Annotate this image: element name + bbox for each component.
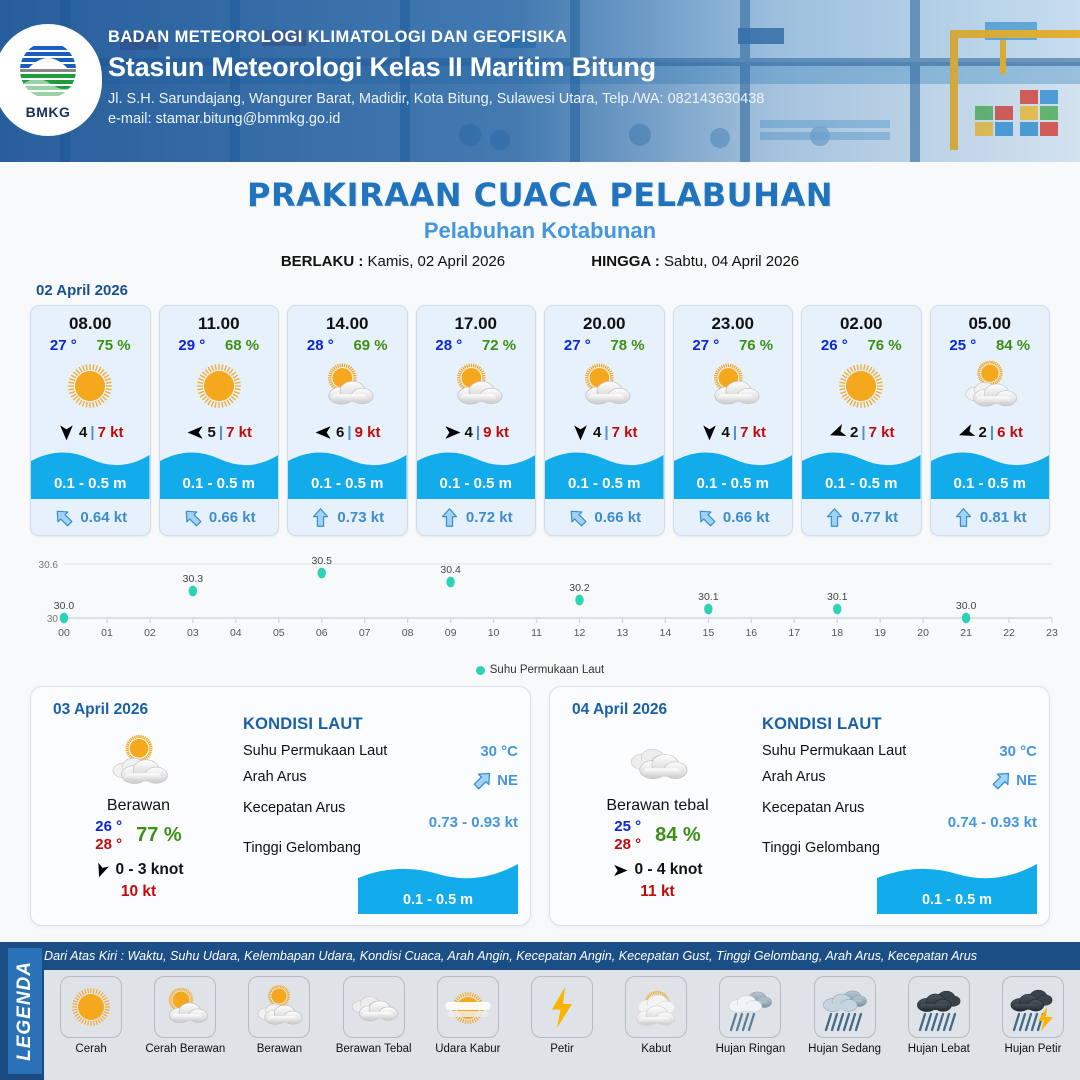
day-sea-conditions: KONDISI LAUT Suhu Permukaan Laut 30 °C A… xyxy=(762,715,1037,856)
card-wind-speed: 4 xyxy=(79,424,87,441)
card-humidity: 76 % xyxy=(739,337,773,354)
card-separator: | xyxy=(861,424,865,441)
current-direction-arrow-icon xyxy=(953,507,974,528)
card-temp-hum: 27 ° 75 % xyxy=(31,334,150,354)
legend-footer: LEGENDA Dari Atas Kiri : Waktu, Suhu Uda… xyxy=(0,942,1080,1080)
page-header: BMKG BADAN METEOROLOGI KLIMATOLOGI DAN G… xyxy=(0,0,1080,162)
wind-direction-arrow-icon xyxy=(93,862,110,879)
card-wind-row: 5 | 7 kt xyxy=(160,417,279,447)
header-text-block: BADAN METEOROLOGI KLIMATOLOGI DAN GEOFIS… xyxy=(108,28,764,127)
card-current-row: 0.64 kt xyxy=(31,499,150,535)
card-wind-row: 4 | 7 kt xyxy=(545,417,664,447)
weather-cerah-berawan-icon xyxy=(417,355,536,417)
card-temp-hum: 27 ° 76 % xyxy=(674,334,793,354)
card-humidity: 78 % xyxy=(610,337,644,354)
day-date: 04 April 2026 xyxy=(572,701,667,719)
weather-hujan-petir-icon xyxy=(1002,976,1064,1038)
current-direction-arrow-icon xyxy=(310,507,331,528)
wind-direction-arrow-icon xyxy=(186,423,205,442)
card-current-speed: 0.66 kt xyxy=(723,509,770,526)
card-wind-speed: 4 xyxy=(465,424,473,441)
wind-direction-arrow-icon xyxy=(314,423,333,442)
svg-text:15: 15 xyxy=(703,627,715,639)
weather-cerah-icon xyxy=(802,355,921,417)
day-condition: Berawan xyxy=(41,797,236,815)
legend-item: Kabut xyxy=(609,976,703,1055)
legend-item-label: Cerah Berawan xyxy=(138,1043,232,1055)
card-temp-hum: 28 ° 69 % xyxy=(288,334,407,354)
card-time: 02.00 xyxy=(802,306,921,334)
day-wind-row: 0 - 4 knot xyxy=(560,861,755,879)
card-wave-block: 0.1 - 0.5 m xyxy=(417,447,536,499)
valid-until-label: HINGGA : xyxy=(591,253,660,270)
sst-row: Suhu Permukaan Laut 30 °C xyxy=(243,743,518,760)
current-direction-arrow-icon xyxy=(182,507,203,528)
valid-until-value: Sabtu, 04 April 2026 xyxy=(664,253,799,270)
legend-item: Berawan Tebal xyxy=(327,976,421,1055)
legend-item: Cerah Berawan xyxy=(138,976,232,1055)
weather-cerah-berawan-icon xyxy=(545,355,664,417)
card-wave-height: 0.1 - 0.5 m xyxy=(288,475,407,492)
card-wave-block: 0.1 - 0.5 m xyxy=(288,447,407,499)
card-temperature: 27 ° xyxy=(564,337,591,354)
card-wave-block: 0.1 - 0.5 m xyxy=(931,447,1050,499)
card-temperature: 25 ° xyxy=(949,337,976,354)
legend-item-label: Berawan xyxy=(232,1043,326,1055)
sst-value: 30 °C xyxy=(480,743,518,760)
svg-text:07: 07 xyxy=(359,627,371,639)
day-wave-value: 0.1 - 0.5 m xyxy=(358,892,518,908)
card-temp-hum: 25 ° 84 % xyxy=(931,334,1050,354)
day-wind-range: 0 - 4 knot xyxy=(634,861,702,879)
svg-text:09: 09 xyxy=(445,627,457,639)
sst-value: 30 °C xyxy=(999,743,1037,760)
card-wind-row: 4 | 7 kt xyxy=(674,417,793,447)
card-wind-row: 4 | 9 kt xyxy=(417,417,536,447)
current-speed-label: Kecepatan Arus xyxy=(243,800,345,816)
card-wind-speed: 4 xyxy=(593,424,601,441)
page-subtitle: Pelabuhan Kotabunan xyxy=(0,218,1080,244)
sst-row: Suhu Permukaan Laut 30 °C xyxy=(762,743,1037,760)
wave-height-row: Tinggi Gelombang xyxy=(762,840,1037,856)
svg-text:17: 17 xyxy=(788,627,800,639)
legend-item-label: Petir xyxy=(515,1043,609,1055)
svg-text:04: 04 xyxy=(230,627,242,639)
svg-text:00: 00 xyxy=(58,627,70,639)
legend-side-banner: LEGENDA xyxy=(8,948,42,1074)
svg-text:06: 06 xyxy=(316,627,328,639)
day-temp-max: 28 ° xyxy=(95,836,122,853)
wind-direction-arrow-icon xyxy=(612,862,629,879)
current-direction-arrow-icon xyxy=(439,507,460,528)
card-time: 05.00 xyxy=(931,306,1050,334)
card-humidity: 68 % xyxy=(225,337,259,354)
svg-text:05: 05 xyxy=(273,627,285,639)
card-current-speed: 0.72 kt xyxy=(466,509,513,526)
card-wind-speed: 2 xyxy=(979,424,987,441)
current-direction-row: Arah Arus NE xyxy=(762,769,1037,791)
weather-berawan-tebal-icon xyxy=(560,731,755,793)
svg-text:16: 16 xyxy=(745,627,757,639)
card-wave-block: 0.1 - 0.5 m xyxy=(802,447,921,499)
card-current-speed: 0.66 kt xyxy=(209,509,256,526)
card-wind-speed: 2 xyxy=(850,424,858,441)
station-name: Stasiun Meteorologi Kelas II Maritim Bit… xyxy=(108,52,764,83)
card-separator: | xyxy=(347,424,351,441)
card-wave-height: 0.1 - 0.5 m xyxy=(160,475,279,492)
wind-direction-arrow-icon xyxy=(443,423,462,442)
station-address: Jl. S.H. Sarundajang, Wangurer Barat, Ma… xyxy=(108,91,764,107)
wind-direction-arrow-icon xyxy=(57,423,76,442)
daily-forecast-panel: 03 April 2026 Berawan 26 ° 28 ° 77 % xyxy=(30,686,531,926)
card-wind-speed: 6 xyxy=(336,424,344,441)
svg-text:30.5: 30.5 xyxy=(312,555,333,567)
sea-conditions-title: KONDISI LAUT xyxy=(243,715,518,734)
svg-text:12: 12 xyxy=(574,627,586,639)
card-separator: | xyxy=(90,424,94,441)
day-summary: Berawan tebal 25 ° 28 ° 84 % 0 - 4 knot … xyxy=(560,731,755,901)
current-direction-arrow-icon xyxy=(824,507,845,528)
hourly-forecast-card: 05.00 25 ° 84 % 2 | 6 kt 0.1 - xyxy=(930,305,1051,536)
card-current-row: 0.72 kt xyxy=(417,499,536,535)
day-temp-max: 28 ° xyxy=(614,836,641,853)
legend-item: Hujan Lebat xyxy=(892,976,986,1055)
svg-text:23: 23 xyxy=(1046,627,1058,639)
card-temperature: 27 ° xyxy=(50,337,77,354)
current-direction-label: Arah Arus xyxy=(762,769,826,785)
svg-text:30.4: 30.4 xyxy=(440,564,461,576)
chart-legend-marker-icon xyxy=(476,666,485,675)
legend-item: Hujan Ringan xyxy=(703,976,797,1055)
day-wave-block: 0.1 - 0.5 m xyxy=(877,856,1037,914)
daily-forecast-row: 03 April 2026 Berawan 26 ° 28 ° 77 % xyxy=(0,676,1080,926)
current-direction-row: Arah Arus NE xyxy=(243,769,518,791)
sst-chart: 30.6300001020304050607080910111213141516… xyxy=(22,550,1058,662)
card-current-speed: 0.73 kt xyxy=(337,509,384,526)
svg-text:30.0: 30.0 xyxy=(956,600,977,612)
day-temps: 25 ° 28 ° 84 % xyxy=(560,818,755,853)
wave-height-label: Tinggi Gelombang xyxy=(243,840,361,856)
legend-item-label: Udara Kabur xyxy=(421,1043,515,1055)
svg-text:30.0: 30.0 xyxy=(54,600,75,612)
card-wave-height: 0.1 - 0.5 m xyxy=(931,475,1050,492)
weather-cerah-berawan-icon xyxy=(674,355,793,417)
card-current-speed: 0.81 kt xyxy=(980,509,1027,526)
card-temperature: 26 ° xyxy=(821,337,848,354)
legend-item: Petir xyxy=(515,976,609,1055)
day-condition: Berawan tebal xyxy=(560,797,755,815)
current-direction-arrow-icon xyxy=(991,769,1013,791)
svg-text:11: 11 xyxy=(531,627,542,639)
weather-berawan-icon xyxy=(931,355,1050,417)
card-gust: 9 kt xyxy=(483,424,509,441)
day-sea-conditions: KONDISI LAUT Suhu Permukaan Laut 30 °C A… xyxy=(243,715,518,856)
svg-text:21: 21 xyxy=(960,627,972,639)
weather-cerah-icon xyxy=(160,355,279,417)
card-humidity: 75 % xyxy=(96,337,130,354)
hourly-forecast-row: 08.00 27 ° 75 % 4 | 7 kt 0.1 - 0.5 m xyxy=(0,305,1080,536)
weather-petir-icon xyxy=(531,976,593,1038)
station-email: e-mail: stamar.bitung@bmmkg.go.id xyxy=(108,111,764,127)
wave-height-row: Tinggi Gelombang xyxy=(243,840,518,856)
current-direction-arrow-icon xyxy=(696,507,717,528)
card-wind-row: 4 | 7 kt xyxy=(31,417,150,447)
sst-label: Suhu Permukaan Laut xyxy=(243,743,387,759)
current-speed-value: 0.74 - 0.93 kt xyxy=(762,814,1037,831)
svg-text:19: 19 xyxy=(874,627,886,639)
day-wave-value: 0.1 - 0.5 m xyxy=(877,892,1037,908)
card-current-speed: 0.66 kt xyxy=(594,509,641,526)
hourly-forecast-card: 17.00 28 ° 72 % 4 | 9 kt 0.1 - 0.5 m xyxy=(416,305,537,536)
legend-note: Dari Atas Kiri : Waktu, Suhu Udara, Kele… xyxy=(44,949,1074,963)
card-current-row: 0.66 kt xyxy=(160,499,279,535)
current-direction-value: NE xyxy=(1016,772,1037,789)
card-time: 23.00 xyxy=(674,306,793,334)
day-gust: 11 kt xyxy=(560,883,755,901)
day-summary: Berawan 26 ° 28 ° 77 % 0 - 3 knot 10 kt xyxy=(41,731,236,901)
hourly-forecast-card: 02.00 26 ° 76 % 2 | 7 kt 0.1 - 0.5 m xyxy=(801,305,922,536)
daily-forecast-panel: 04 April 2026 Berawan tebal 25 ° 28 ° 84… xyxy=(549,686,1050,926)
svg-text:30.1: 30.1 xyxy=(827,591,848,603)
legend-item-label: Kabut xyxy=(609,1043,703,1055)
svg-text:20: 20 xyxy=(917,627,929,639)
svg-text:10: 10 xyxy=(488,627,500,639)
forecast-date-label: 02 April 2026 xyxy=(36,282,1080,299)
card-current-row: 0.77 kt xyxy=(802,499,921,535)
card-gust: 7 kt xyxy=(226,424,252,441)
svg-text:13: 13 xyxy=(617,627,629,639)
card-temperature: 29 ° xyxy=(178,337,205,354)
current-direction-arrow-icon xyxy=(53,507,74,528)
svg-text:22: 22 xyxy=(1003,627,1015,639)
card-temperature: 28 ° xyxy=(435,337,462,354)
card-current-row: 0.81 kt xyxy=(931,499,1050,535)
valid-from-label: BERLAKU : xyxy=(281,253,364,270)
sea-conditions-title: KONDISI LAUT xyxy=(762,715,1037,734)
hourly-forecast-card: 08.00 27 ° 75 % 4 | 7 kt 0.1 - 0.5 m xyxy=(30,305,151,536)
card-humidity: 76 % xyxy=(867,337,901,354)
weather-berawan-tebal-icon xyxy=(343,976,405,1038)
svg-text:03: 03 xyxy=(187,627,199,639)
card-temp-hum: 27 ° 78 % xyxy=(545,334,664,354)
card-separator: | xyxy=(990,424,994,441)
legend-item: Hujan Petir xyxy=(986,976,1080,1055)
svg-text:14: 14 xyxy=(660,627,672,639)
svg-text:30.2: 30.2 xyxy=(569,582,590,594)
current-direction-arrow-icon xyxy=(567,507,588,528)
day-date: 03 April 2026 xyxy=(53,701,148,719)
weather-hujan-lebat-icon xyxy=(908,976,970,1038)
legend-item: Hujan Sedang xyxy=(798,976,892,1055)
card-wind-speed: 5 xyxy=(208,424,216,441)
weather-hujan-sedang-icon xyxy=(814,976,876,1038)
card-current-row: 0.73 kt xyxy=(288,499,407,535)
legend-item: Berawan xyxy=(232,976,326,1055)
chart-legend-label: Suhu Permukaan Laut xyxy=(490,664,604,676)
card-wave-height: 0.1 - 0.5 m xyxy=(417,475,536,492)
page-title: PRAKIRAAN CUACA PELABUHAN xyxy=(0,176,1080,214)
current-direction-value: NE xyxy=(497,772,518,789)
card-wave-height: 0.1 - 0.5 m xyxy=(674,475,793,492)
legend-item: Udara Kabur xyxy=(421,976,515,1055)
card-temperature: 27 ° xyxy=(692,337,719,354)
card-wind-row: 2 | 6 kt xyxy=(931,417,1050,447)
weather-cerah-icon xyxy=(31,355,150,417)
svg-text:30.6: 30.6 xyxy=(39,560,59,571)
card-separator: | xyxy=(733,424,737,441)
legend-item-label: Hujan Lebat xyxy=(892,1043,986,1055)
card-time: 14.00 xyxy=(288,306,407,334)
card-current-row: 0.66 kt xyxy=(545,499,664,535)
svg-text:30: 30 xyxy=(47,614,59,625)
weather-berawan-icon xyxy=(41,731,236,793)
day-wave-block: 0.1 - 0.5 m xyxy=(358,856,518,914)
wave-height-label: Tinggi Gelombang xyxy=(762,840,880,856)
card-wind-row: 6 | 9 kt xyxy=(288,417,407,447)
card-humidity: 72 % xyxy=(482,337,516,354)
day-temp-min: 26 ° xyxy=(95,818,122,835)
current-speed-value: 0.73 - 0.93 kt xyxy=(243,814,518,831)
card-wave-block: 0.1 - 0.5 m xyxy=(674,447,793,499)
card-time: 08.00 xyxy=(31,306,150,334)
bmkg-logo: BMKG xyxy=(0,24,102,136)
card-gust: 7 kt xyxy=(612,424,638,441)
card-time: 17.00 xyxy=(417,306,536,334)
svg-text:08: 08 xyxy=(402,627,414,639)
card-humidity: 69 % xyxy=(353,337,387,354)
weather-cerah-berawan-icon xyxy=(154,976,216,1038)
agency-name: BADAN METEOROLOGI KLIMATOLOGI DAN GEOFIS… xyxy=(108,28,764,47)
bmkg-logo-icon xyxy=(17,40,79,102)
title-section: PRAKIRAAN CUACA PELABUHAN Pelabuhan Kota… xyxy=(0,162,1080,270)
legend-items-row: Cerah Cerah Berawan Berawan xyxy=(44,970,1080,1080)
weather-udara-kabur-icon xyxy=(437,976,499,1038)
card-wave-height: 0.1 - 0.5 m xyxy=(545,475,664,492)
card-time: 11.00 xyxy=(160,306,279,334)
svg-text:01: 01 xyxy=(101,627,113,639)
card-current-speed: 0.64 kt xyxy=(80,509,127,526)
svg-text:30.1: 30.1 xyxy=(698,591,719,603)
legend-item-label: Cerah xyxy=(44,1043,138,1055)
card-wave-height: 0.1 - 0.5 m xyxy=(31,475,150,492)
day-humidity: 77 % xyxy=(136,824,182,847)
weather-cerah-berawan-icon xyxy=(288,355,407,417)
hourly-forecast-card: 23.00 27 ° 76 % 4 | 7 kt 0.1 - 0.5 m xyxy=(673,305,794,536)
validity-row: BERLAKU : Kamis, 02 April 2026 HINGGA : … xyxy=(0,253,1080,270)
wind-direction-arrow-icon xyxy=(957,423,976,442)
legend-side-label: LEGENDA xyxy=(14,961,36,1061)
weather-kabut-icon xyxy=(625,976,687,1038)
card-humidity: 84 % xyxy=(996,337,1030,354)
day-temps: 26 ° 28 ° 77 % xyxy=(41,818,236,853)
chart-legend: Suhu Permukaan Laut xyxy=(0,664,1080,676)
legend-item: Cerah xyxy=(44,976,138,1055)
card-separator: | xyxy=(219,424,223,441)
day-humidity: 84 % xyxy=(655,824,701,847)
card-wave-block: 0.1 - 0.5 m xyxy=(545,447,664,499)
day-wind-range: 0 - 3 knot xyxy=(115,861,183,879)
svg-text:02: 02 xyxy=(144,627,156,639)
legend-item-label: Hujan Sedang xyxy=(798,1043,892,1055)
hourly-forecast-card: 11.00 29 ° 68 % 5 | 7 kt 0.1 - 0.5 m xyxy=(159,305,280,536)
day-wind-row: 0 - 3 knot xyxy=(41,861,236,879)
card-temp-hum: 29 ° 68 % xyxy=(160,334,279,354)
valid-from-value: Kamis, 02 April 2026 xyxy=(368,253,506,270)
sst-chart-svg: 30.6300001020304050607080910111213141516… xyxy=(22,550,1058,662)
card-time: 20.00 xyxy=(545,306,664,334)
wind-direction-arrow-icon xyxy=(571,423,590,442)
card-gust: 7 kt xyxy=(98,424,124,441)
hourly-forecast-card: 14.00 28 ° 69 % 6 | 9 kt 0.1 - 0.5 m xyxy=(287,305,408,536)
sst-label: Suhu Permukaan Laut xyxy=(762,743,906,759)
card-separator: | xyxy=(604,424,608,441)
card-gust: 7 kt xyxy=(869,424,895,441)
card-temperature: 28 ° xyxy=(307,337,334,354)
day-gust: 10 kt xyxy=(41,883,236,901)
current-direction-arrow-icon xyxy=(472,769,494,791)
card-temp-hum: 26 ° 76 % xyxy=(802,334,921,354)
weather-cerah-icon xyxy=(60,976,122,1038)
card-wind-speed: 4 xyxy=(722,424,730,441)
current-direction-label: Arah Arus xyxy=(243,769,307,785)
current-speed-label: Kecepatan Arus xyxy=(762,800,864,816)
wind-direction-arrow-icon xyxy=(828,423,847,442)
legend-item-label: Hujan Ringan xyxy=(703,1043,797,1055)
card-wave-block: 0.1 - 0.5 m xyxy=(31,447,150,499)
card-wave-block: 0.1 - 0.5 m xyxy=(160,447,279,499)
bmkg-logo-text: BMKG xyxy=(26,104,71,120)
legend-item-label: Hujan Petir xyxy=(986,1043,1080,1055)
card-gust: 7 kt xyxy=(740,424,766,441)
svg-text:18: 18 xyxy=(831,627,843,639)
card-gust: 6 kt xyxy=(997,424,1023,441)
card-current-row: 0.66 kt xyxy=(674,499,793,535)
card-wind-row: 2 | 7 kt xyxy=(802,417,921,447)
card-current-speed: 0.77 kt xyxy=(851,509,898,526)
card-separator: | xyxy=(476,424,480,441)
weather-hujan-ringan-icon xyxy=(719,976,781,1038)
svg-text:30.3: 30.3 xyxy=(183,573,204,585)
card-wave-height: 0.1 - 0.5 m xyxy=(802,475,921,492)
card-temp-hum: 28 ° 72 % xyxy=(417,334,536,354)
day-temp-min: 25 ° xyxy=(614,818,641,835)
card-gust: 9 kt xyxy=(355,424,381,441)
hourly-forecast-card: 20.00 27 ° 78 % 4 | 7 kt 0.1 - 0.5 m xyxy=(544,305,665,536)
legend-item-label: Berawan Tebal xyxy=(327,1043,421,1055)
wind-direction-arrow-icon xyxy=(700,423,719,442)
weather-berawan-icon xyxy=(248,976,310,1038)
